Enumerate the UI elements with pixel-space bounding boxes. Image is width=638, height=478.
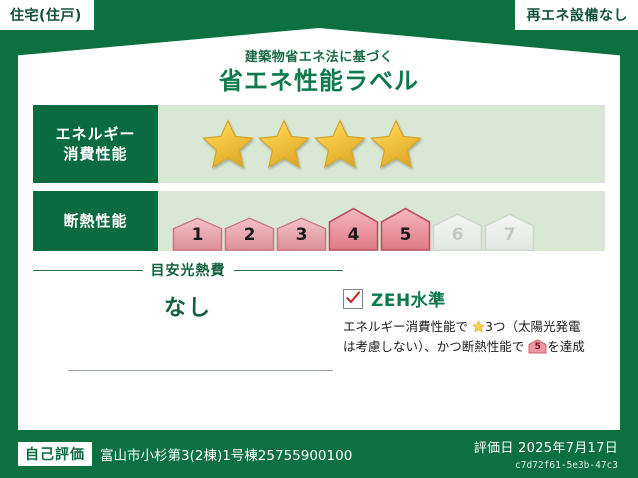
energy-label-card: 住宅(住戸) 再エネ設備なし 建築物省エネ法に基づく 省エネ性能ラベル エネルギ… [0, 0, 638, 478]
utility-cost-label: 目安光熱費 [151, 260, 226, 280]
insulation-level-number: 1 [192, 225, 204, 251]
star-icon [314, 118, 366, 170]
utility-cost-value: なし [33, 290, 343, 322]
evaluation-id: c7d72f61-5e3b-47c3 [515, 460, 618, 471]
insulation-level-7: 7 [484, 213, 535, 251]
roof-header-panel: 建築物省エネ法に基づく 省エネ性能ラベル [18, 28, 620, 100]
zeh-block: ZEH水準 エネルギー消費性能で 3つ（太陽光発電 は考慮しない）、かつ断熱性能… [343, 286, 606, 357]
insulation-level-3: 3 [276, 217, 327, 251]
insulation-caption-label: 断熱性能 [63, 211, 127, 231]
energy-performance-caption: エネルギー 消費性能 [33, 105, 158, 183]
star-icon [258, 118, 310, 170]
cost-section-divider [68, 370, 333, 371]
energy-caption-line1: エネルギー [55, 124, 135, 144]
insulation-level-number: 5 [400, 225, 412, 251]
energy-performance-value [158, 105, 605, 183]
zeh-description: エネルギー消費性能で 3つ（太陽光発電 は考慮しない）、かつ断熱性能で 5 を達… [343, 317, 606, 357]
insulation-level-number: 6 [452, 225, 464, 251]
zeh-heading: ZEH水準 [343, 286, 606, 311]
property-address: 富山市小杉第3(2棟)1号棟25755900100 [100, 444, 352, 464]
insulation-level-number: 3 [296, 225, 308, 251]
renewable-equipment-tag: 再エネ設備なし [515, 0, 638, 30]
zeh-desc-part1: エネルギー消費性能で [343, 319, 468, 334]
insulation-performance-row: 断熱性能 1234567 [33, 191, 605, 251]
star-icon [370, 118, 422, 170]
energy-caption-line2: 消費性能 [63, 144, 127, 164]
self-evaluation-chip: 自己評価 [18, 442, 92, 466]
star-icon [202, 118, 254, 170]
mini-star-icon [472, 319, 485, 332]
insulation-level-number: 4 [348, 225, 360, 251]
evaluation-date: 評価日 2025年7月17日 [474, 437, 618, 456]
zeh-desc-part3: を達成 [547, 339, 585, 354]
insulation-performance-caption: 断熱性能 [33, 191, 158, 251]
insulation-level-2: 2 [224, 217, 275, 251]
label-body-panel: エネルギー 消費性能 断熱性能 1234567 目安光熱費 なし [18, 98, 620, 430]
building-type-tag: 住宅(住戸) [0, 0, 94, 30]
star-rating [158, 118, 422, 170]
mini-house-badge: 5 [528, 339, 547, 354]
zeh-checkbox[interactable] [343, 289, 363, 309]
zeh-desc-star-count: 3つ（太陽光発電 [485, 319, 580, 334]
insulation-level-1: 1 [172, 217, 223, 251]
zeh-desc-part2: は考慮しない）、かつ断熱性能で [343, 339, 524, 354]
utility-cost-heading: 目安光熱費 [33, 260, 343, 280]
insulation-level-number: 2 [244, 225, 256, 251]
energy-performance-row: エネルギー 消費性能 [33, 105, 605, 183]
check-icon [345, 290, 361, 306]
label-footer: 自己評価 富山市小杉第3(2棟)1号棟25755900100 評価日 2025年… [0, 430, 638, 478]
insulation-level-5: 5 [380, 207, 431, 251]
header-title: 省エネ性能ラベル [18, 61, 620, 96]
zeh-title: ZEH水準 [371, 286, 446, 311]
insulation-performance-value: 1234567 [158, 191, 605, 251]
self-evaluation-area: 自己評価 富山市小杉第3(2棟)1号棟25755900100 [18, 442, 352, 466]
heading-rule-right [234, 270, 344, 271]
heading-rule-left [33, 270, 143, 271]
insulation-scale: 1234567 [158, 191, 536, 251]
insulation-level-number: 7 [504, 225, 516, 251]
mini-house-number: 5 [528, 340, 547, 354]
insulation-level-6: 6 [432, 213, 483, 251]
insulation-level-4: 4 [328, 207, 379, 251]
